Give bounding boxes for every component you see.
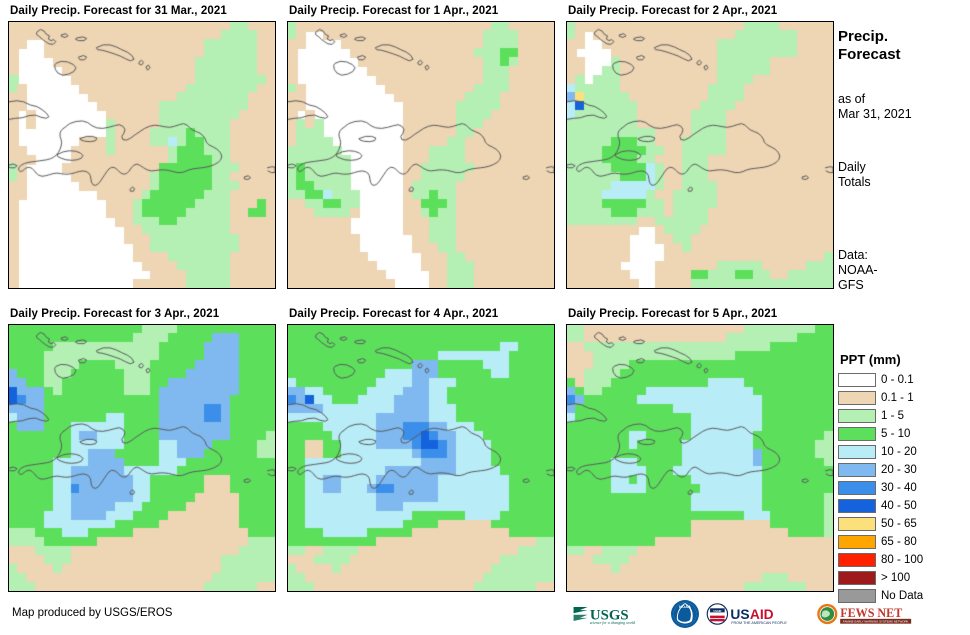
map-panel-title: Daily Precip. Forecast for 31 Mar., 2021: [10, 4, 276, 18]
map-canvas-frame[interactable]: [8, 324, 276, 592]
legend-row: 30 - 40: [838, 479, 970, 497]
legend-label: 20 - 30: [881, 464, 917, 476]
legend-row: > 100: [838, 569, 970, 587]
svg-text:FROM THE AMERICAN PEOPLE: FROM THE AMERICAN PEOPLE: [731, 621, 787, 625]
legend-row: 50 - 65: [838, 515, 970, 533]
legend: PPT (mm) 0 - 0.10.1 - 11 - 55 - 1010 - 2…: [838, 352, 970, 605]
data-source-line3: GFS: [838, 278, 878, 293]
svg-text:US: US: [730, 606, 749, 622]
svg-text:FEWS NET: FEWS NET: [840, 606, 902, 620]
as-of-block: as of Mar 31, 2021: [838, 92, 912, 122]
legend-swatch: [838, 535, 876, 549]
map-canvas-frame[interactable]: [287, 21, 555, 289]
map-panel[interactable]: Daily Precip. Forecast for 3 Apr., 2021: [8, 307, 276, 592]
fewsnet-logo: FEWS NET FAMINE EARLY WARNING SYSTEMS NE…: [816, 599, 916, 629]
legend-label: 0 - 0.1: [881, 374, 914, 386]
legend-label: 0.1 - 1: [881, 392, 914, 404]
map-panel[interactable]: Daily Precip. Forecast for 5 Apr., 2021: [566, 307, 834, 592]
legend-swatch: [838, 499, 876, 513]
legend-row: 65 - 80: [838, 533, 970, 551]
legend-row: 80 - 100: [838, 551, 970, 569]
as-of-label: as of: [838, 92, 912, 107]
legend-row: 1 - 5: [838, 407, 970, 425]
precip-map-canvas[interactable]: [288, 325, 554, 591]
legend-swatch: [838, 409, 876, 423]
legend-row: 0.1 - 1: [838, 389, 970, 407]
map-panel[interactable]: Daily Precip. Forecast for 4 Apr., 2021: [287, 307, 555, 592]
period-line1: Daily: [838, 160, 871, 175]
svg-text:NOAA: NOAA: [679, 604, 691, 609]
legend-label: 10 - 20: [881, 446, 917, 458]
svg-text:FAMINE EARLY WARNING SYSTEMS N: FAMINE EARLY WARNING SYSTEMS NETWORK: [843, 620, 909, 624]
map-canvas-frame[interactable]: [566, 324, 834, 592]
map-panel-title: Daily Precip. Forecast for 2 Apr., 2021: [568, 4, 834, 18]
map-panel-title: Daily Precip. Forecast for 3 Apr., 2021: [10, 307, 276, 321]
agency-logos: USGS science for a changing world NOAA U…: [572, 598, 916, 630]
legend-swatch: [838, 373, 876, 387]
legend-swatch: [838, 481, 876, 495]
info-sidebar: Precip. Forecast as of Mar 31, 2021 Dail…: [838, 0, 970, 635]
map-panel[interactable]: Daily Precip. Forecast for 31 Mar., 2021: [8, 4, 276, 289]
map-canvas-frame[interactable]: [8, 21, 276, 289]
legend-label: 1 - 5: [881, 410, 904, 422]
map-panel[interactable]: Daily Precip. Forecast for 2 Apr., 2021: [566, 4, 834, 289]
usgs-logo: USGS science for a changing world: [572, 599, 664, 629]
precip-map-canvas[interactable]: [9, 22, 275, 288]
legend-row: 10 - 20: [838, 443, 970, 461]
precip-map-canvas[interactable]: [9, 325, 275, 591]
legend-label: 30 - 40: [881, 482, 917, 494]
precip-map-canvas[interactable]: [288, 22, 554, 288]
data-source-line2: NOAA-: [838, 263, 878, 278]
legend-title: PPT (mm): [840, 352, 970, 367]
map-panel-title: Daily Precip. Forecast for 1 Apr., 2021: [289, 4, 555, 18]
legend-row: 40 - 50: [838, 497, 970, 515]
accumulation-period-block: Daily Totals: [838, 160, 871, 190]
noaa-logo: NOAA: [670, 599, 700, 629]
legend-label: 80 - 100: [881, 554, 923, 566]
legend-label: > 100: [881, 572, 910, 584]
legend-row: 20 - 30: [838, 461, 970, 479]
data-source-block: Data: NOAA- GFS: [838, 248, 878, 293]
precip-map-canvas[interactable]: [567, 22, 833, 288]
legend-swatch: [838, 427, 876, 441]
sidebar-heading-line1: Precip.: [838, 28, 901, 46]
legend-swatch: [838, 517, 876, 531]
legend-label: 65 - 80: [881, 536, 917, 548]
usaid-logo: USAID US AID FROM THE AMERICAN PEOPLE: [706, 599, 810, 629]
map-canvas-frame[interactable]: [566, 21, 834, 289]
map-panel-title: Daily Precip. Forecast for 4 Apr., 2021: [289, 307, 555, 321]
precip-map-canvas[interactable]: [567, 325, 833, 591]
precip-forecast-map-page: Daily Precip. Forecast for 31 Mar., 2021…: [0, 0, 970, 635]
legend-label: 5 - 10: [881, 428, 910, 440]
legend-swatch: [838, 553, 876, 567]
legend-row: 5 - 10: [838, 425, 970, 443]
map-panel-title: Daily Precip. Forecast for 5 Apr., 2021: [568, 307, 834, 321]
map-canvas-frame[interactable]: [287, 324, 555, 592]
legend-label: 50 - 65: [881, 518, 917, 530]
legend-swatch: [838, 391, 876, 405]
map-panel[interactable]: Daily Precip. Forecast for 1 Apr., 2021: [287, 4, 555, 289]
legend-label: 40 - 50: [881, 500, 917, 512]
sidebar-heading: Precip. Forecast: [838, 28, 901, 64]
sidebar-heading-line2: Forecast: [838, 46, 901, 64]
legend-rows: 0 - 0.10.1 - 11 - 55 - 1010 - 2020 - 303…: [838, 371, 970, 605]
period-line2: Totals: [838, 175, 871, 190]
legend-swatch: [838, 463, 876, 477]
map-credit: Map produced by USGS/EROS: [12, 607, 172, 619]
data-source-label: Data:: [838, 248, 878, 263]
legend-swatch: [838, 571, 876, 585]
svg-text:USAID: USAID: [713, 609, 721, 613]
legend-swatch: [838, 445, 876, 459]
legend-row: 0 - 0.1: [838, 371, 970, 389]
svg-text:AID: AID: [750, 606, 774, 622]
svg-text:science for a changing world: science for a changing world: [590, 621, 635, 625]
as-of-date: Mar 31, 2021: [838, 107, 912, 122]
